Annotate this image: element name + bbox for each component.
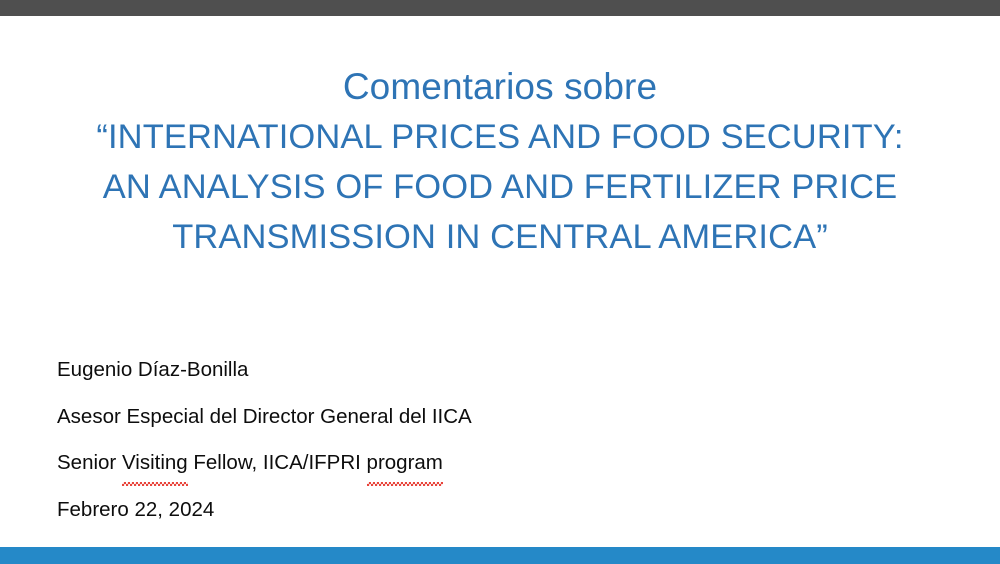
author-name: Eugenio Díaz-Bonilla [57,347,937,394]
affiliation-prefix: Senior [57,451,122,474]
author-affiliation: Senior Visiting Fellow, IICA/IFPRI progr… [57,440,937,487]
title-line-3: AN ANALYSIS OF FOOD AND FERTILIZER PRICE [0,162,1000,212]
affiliation-middle: Fellow, IICA/IFPRI [188,451,367,474]
presentation-slide: Comentarios sobre “INTERNATIONAL PRICES … [0,0,1000,564]
slide-title: Comentarios sobre “INTERNATIONAL PRICES … [0,62,1000,262]
title-line-1: Comentarios sobre [0,62,1000,112]
misspelled-word-visiting: Visiting [122,440,188,487]
slide-body: Eugenio Díaz-Bonilla Asesor Especial del… [57,347,937,533]
title-line-4: TRANSMISSION IN CENTRAL AMERICA” [0,212,1000,262]
title-line-2: “INTERNATIONAL PRICES AND FOOD SECURITY: [0,112,1000,162]
bottom-accent-band [0,547,1000,564]
misspelled-word-program: program [367,440,443,487]
author-role: Asesor Especial del Director General del… [57,394,937,441]
top-accent-band [0,0,1000,16]
presentation-date: Febrero 22, 2024 [57,487,937,534]
